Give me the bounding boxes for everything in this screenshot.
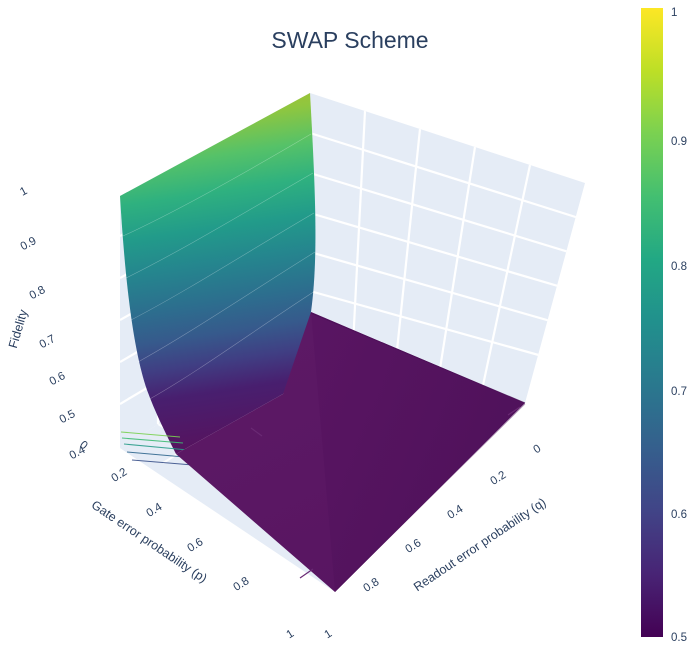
colorbar-tick-0-9: 0.9 — [671, 136, 687, 148]
colorbar-tick-1: 1 — [671, 7, 677, 19]
colorbar-tick-0-8: 0.8 — [671, 261, 687, 273]
colorbar-gradient — [641, 8, 663, 637]
surface-plot-figure: SWAP Scheme — [0, 0, 700, 650]
plot-svg: SWAP Scheme — [0, 0, 700, 650]
colorbar-tick-0-5: 0.5 — [671, 632, 687, 644]
colorbar-tick-0-6: 0.6 — [671, 509, 687, 521]
colorbar-tick-0-7: 0.7 — [671, 386, 687, 398]
page-title: SWAP Scheme — [271, 27, 428, 53]
